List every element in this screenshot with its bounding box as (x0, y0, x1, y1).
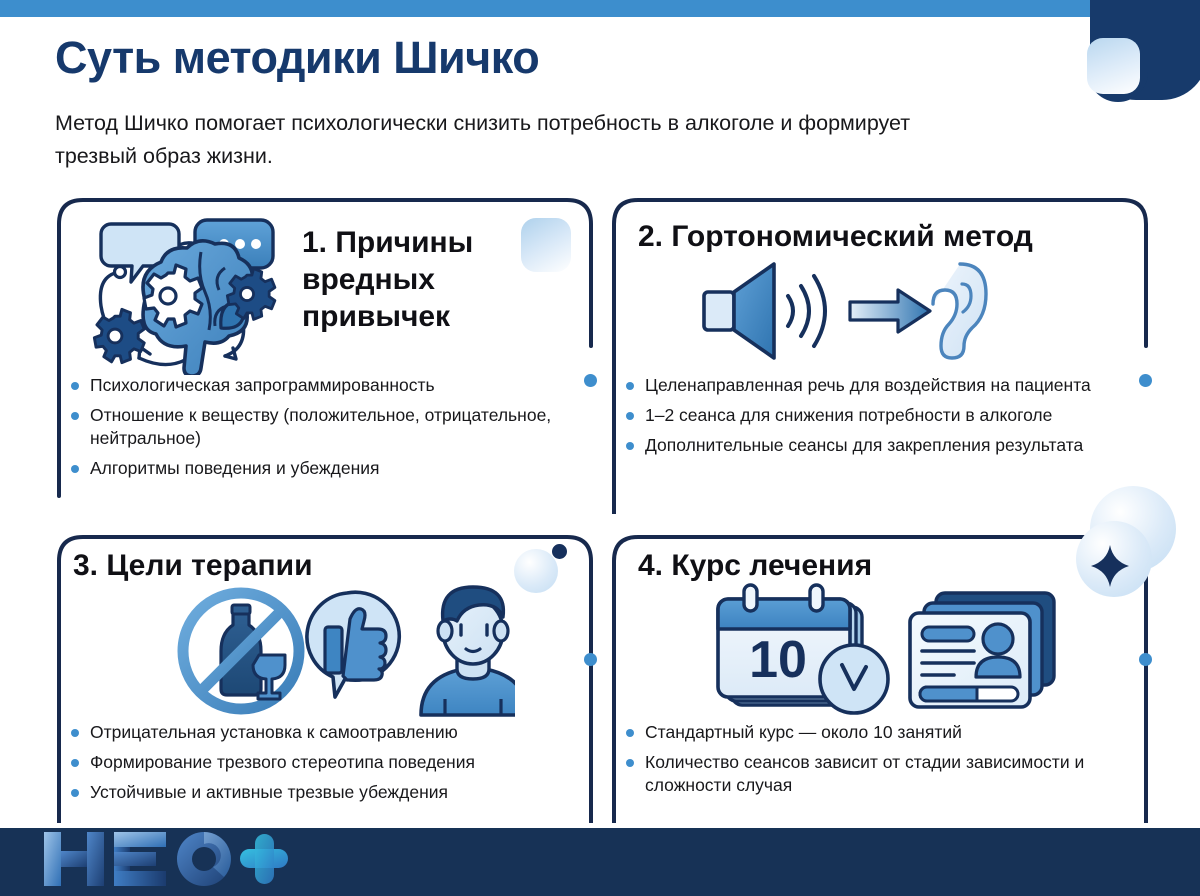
card-3[interactable]: 3. Цели терапии (55, 533, 595, 823)
list-item: Алгоритмы поведения и убеждения (69, 457, 581, 480)
card-1[interactable]: 1. Причины вредных привычек Психологичес… (55, 196, 595, 514)
top-accent-bar (0, 0, 1200, 17)
card-4-title: 4. Курс лечения (638, 547, 1118, 584)
card-1-title: 1. Причины вредных привычек (302, 224, 562, 335)
card-2-decor-dot (1139, 374, 1152, 387)
list-item: Устойчивые и активные трезвые убеждения (69, 781, 581, 804)
card-4-decor-dot (1139, 653, 1152, 666)
card-2-bullets: Целенаправленная речь для воздействия на… (624, 374, 1136, 464)
card-1-decor-dot (584, 374, 597, 387)
card-3-bullets: Отрицательная установка к самоотравлению… (69, 721, 581, 811)
card-4[interactable]: 4. Курс лечения (610, 533, 1150, 823)
list-item: Целенаправленная речь для воздействия на… (624, 374, 1136, 397)
card-2[interactable]: 2. Гортономический метод (610, 196, 1150, 514)
list-item: Стандартный курс — около 10 занятий (624, 721, 1124, 744)
no-alcohol-thumbsup-person-icon (175, 585, 515, 725)
card-3-decor-dot (584, 653, 597, 666)
list-item: Формирование трезвого стереотипа поведен… (69, 751, 581, 774)
page-title: Суть методики Шичко (55, 32, 539, 84)
list-item: Дополнительные сеансы для закрепления ре… (624, 434, 1136, 457)
infographic-canvas: Суть методики Шичко Метод Шичко помогает… (0, 0, 1200, 896)
brain-gears-speech-bubbles-icon (75, 210, 280, 375)
page-subtitle: Метод Шичко помогает психологически сниз… (55, 107, 985, 173)
neo-plus-logo (40, 828, 290, 890)
list-item: Отрицательная установка к самоотравлению (69, 721, 581, 744)
list-item: Отношение к веществу (положительное, отр… (69, 404, 581, 450)
speaker-arrow-ear-icon (698, 256, 998, 366)
corner-light-square-decor (1087, 38, 1140, 94)
card-1-bullets: Психологическая запрограммированность От… (69, 374, 581, 487)
card-3-decor-dot-navy (552, 544, 567, 559)
list-item: Количество сеансов зависит от стадии зав… (624, 751, 1124, 797)
calendar-clock-idcards-icon: 10 (706, 581, 1056, 721)
card-4-bullets: Стандартный курс — около 10 занятий Коли… (624, 721, 1124, 804)
list-item: 1–2 сеанса для снижения потребности в ал… (624, 404, 1136, 427)
list-item: Психологическая запрограммированность (69, 374, 581, 397)
calendar-day-number: 10 (749, 631, 807, 689)
card-3-title: 3. Цели терапии (73, 547, 553, 584)
card-2-title: 2. Гортономический метод (638, 218, 1128, 255)
